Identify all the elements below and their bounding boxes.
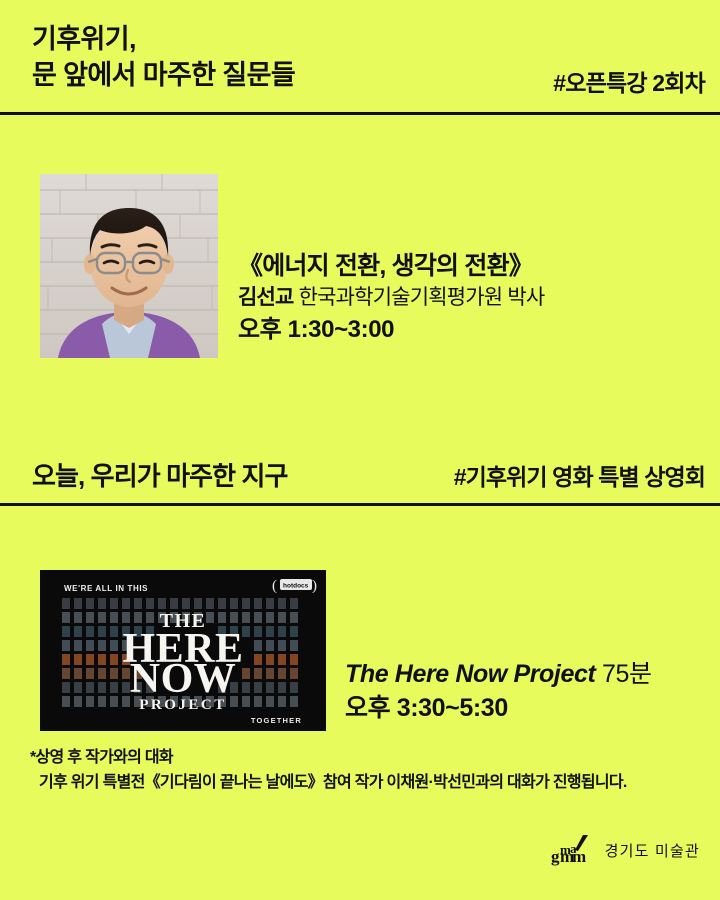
- footnote: *상영 후 작가와의 대화 기후 위기 특별전《기다림이 끝나는 날에도》참여 …: [30, 746, 710, 796]
- screening-hashtag: #기후위기 영화 특별 상영회: [454, 458, 705, 492]
- gmoma-logo-icon: g m m m a: [550, 832, 596, 868]
- speaker-portrait: [40, 174, 218, 358]
- film-poster-image: WE'RE ALL IN THIS ( hotdocs ) THE HERE N…: [40, 570, 326, 731]
- svg-text:): ): [312, 578, 317, 594]
- lecture-details: 《에너지 전환, 생각의 전환》 김선교 한국과학기술기획평가원 박사 오후 1…: [238, 250, 708, 345]
- film-tagline-bottom: TOGETHER: [251, 716, 302, 725]
- page-title: 기후위기, 문 앞에서 마주한 질문들: [32, 22, 295, 94]
- film-duration: 75분: [602, 660, 652, 688]
- film-tagline-top: WE'RE ALL IN THIS: [64, 584, 148, 593]
- footnote-line-1: *상영 후 작가와의 대화: [30, 746, 710, 771]
- film-title-row: The Here Now Project 75분: [345, 658, 715, 691]
- lecture-time: 오후 1:30~3:00: [238, 314, 708, 345]
- film-title: The Here Now Project: [345, 660, 595, 688]
- film-details: The Here Now Project 75분 오후 3:30~5:30: [345, 658, 715, 724]
- museum-logo: g m m m a 경기도 미술관: [550, 832, 700, 868]
- svg-text:g: g: [551, 847, 560, 866]
- svg-text:hotdocs: hotdocs: [283, 583, 309, 590]
- speaker-affiliation: 한국과학기술기획평가원 박사: [299, 286, 545, 309]
- screening-header-section: 오늘, 우리가 마주한 지구 #기후위기 영화 특별 상영회: [0, 440, 720, 503]
- poster: 기후위기, 문 앞에서 마주한 질문들 #오픈특강 2회차: [0, 0, 720, 900]
- film-time: 오후 3:30~5:30: [345, 692, 715, 725]
- lecture-title: 《에너지 전환, 생각의 전환》: [238, 250, 708, 282]
- speaker-info: 김선교 한국과학기술기획평가원 박사: [238, 284, 708, 313]
- header-hashtag: #오픈특강 2회차: [553, 64, 705, 98]
- svg-text:(: (: [272, 578, 277, 594]
- screening-title: 오늘, 우리가 마주한 지구: [32, 456, 288, 493]
- museum-logo-text: 경기도 미술관: [605, 840, 700, 861]
- header-section: 기후위기, 문 앞에서 마주한 질문들 #오픈특강 2회차: [0, 0, 720, 114]
- film-title-project: PROJECT: [139, 697, 227, 713]
- speaker-name: 김선교: [238, 286, 294, 309]
- film-title-now: NOW: [130, 656, 237, 702]
- footnote-line-2: 기후 위기 특별전《기다림이 끝나는 날에도》참여 작가 이채원·박선민과의 대…: [30, 771, 710, 796]
